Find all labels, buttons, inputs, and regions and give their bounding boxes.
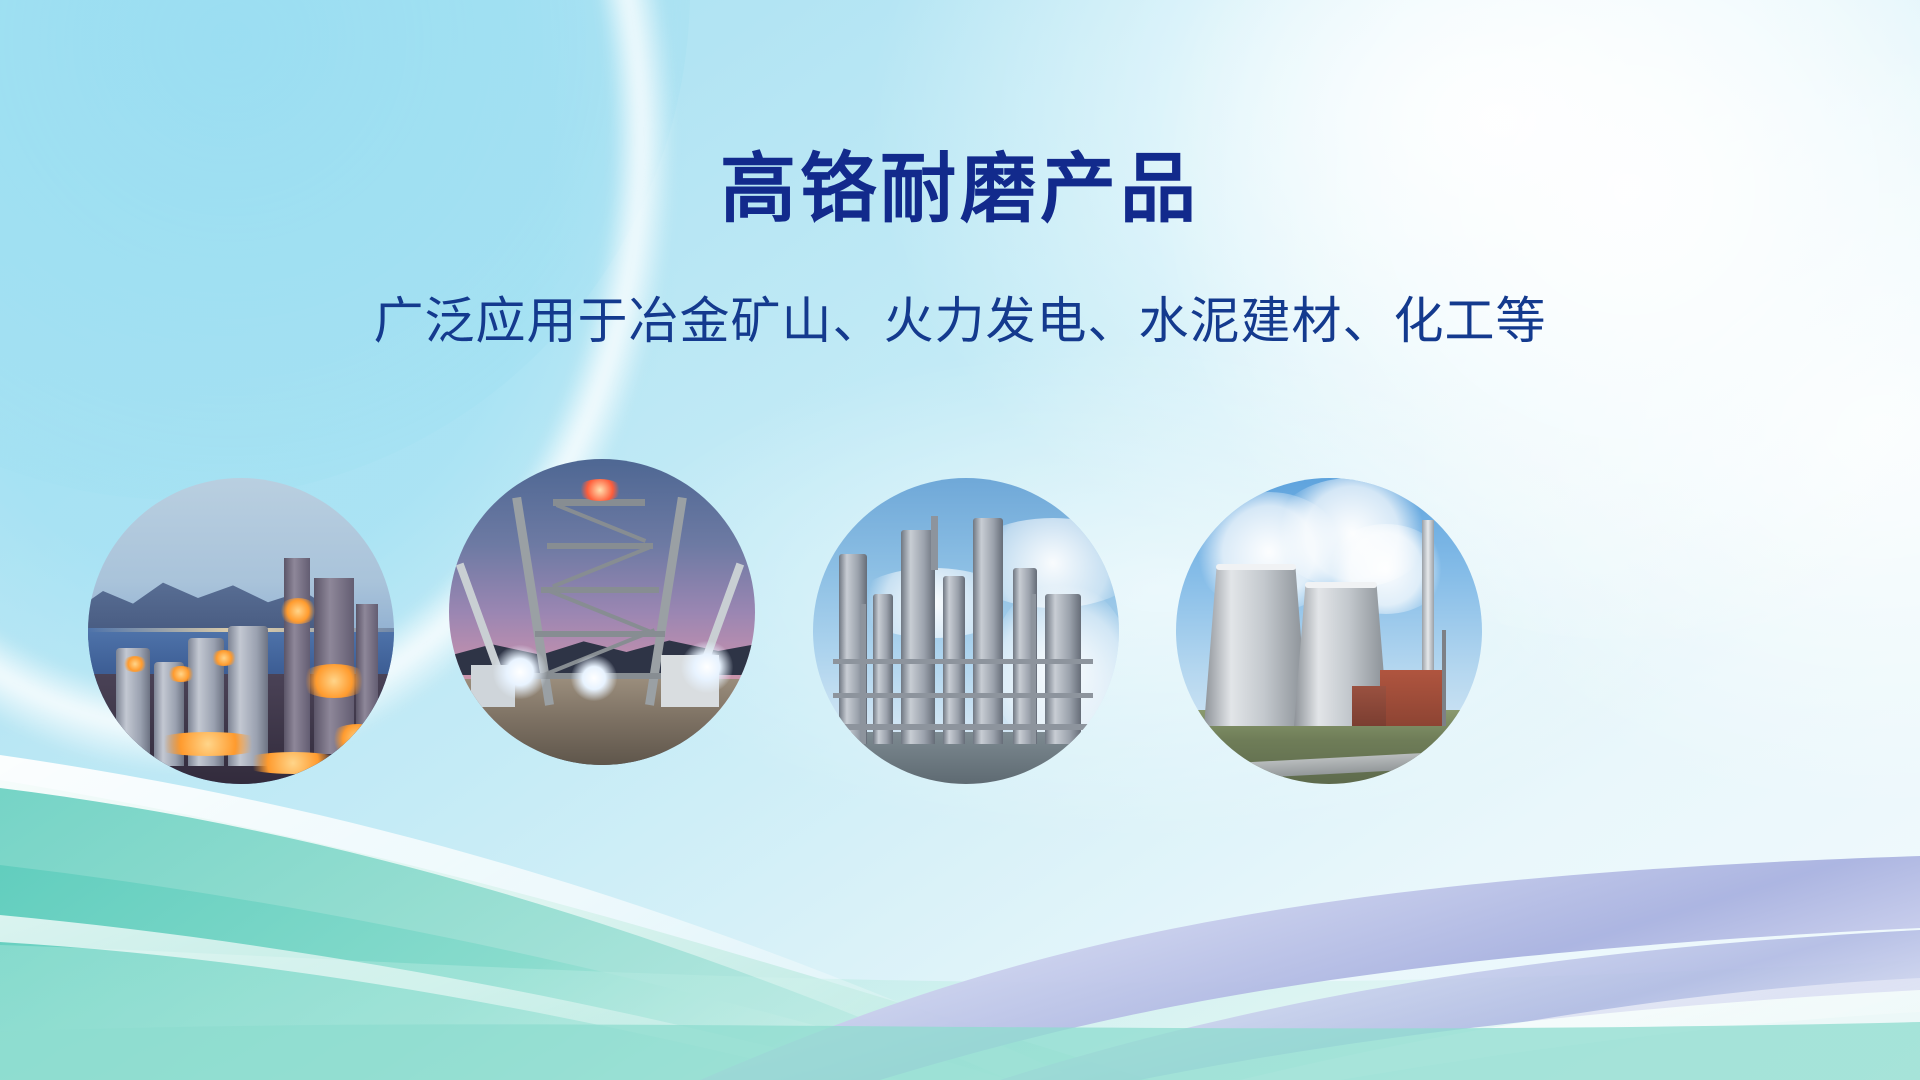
structure-frame <box>861 604 866 744</box>
headframe-beacon <box>577 479 623 501</box>
plant-light <box>328 724 388 754</box>
plant-light <box>122 656 148 672</box>
medallion-mining[interactable] <box>449 459 755 765</box>
site-lamp <box>681 641 733 693</box>
distillation-column <box>1045 594 1081 744</box>
plant-light <box>238 752 348 774</box>
medallion-metallurgy[interactable] <box>88 478 394 784</box>
cooling-tower-rim <box>1216 564 1296 570</box>
transmission-pylon <box>1442 630 1446 726</box>
distillation-column <box>873 594 893 744</box>
site-lamp <box>493 645 547 699</box>
pipe-rack <box>833 724 1101 730</box>
scene-power <box>1176 478 1482 784</box>
pipe-rack <box>833 693 1093 698</box>
plant-tower <box>284 558 310 754</box>
power-house <box>1352 686 1386 726</box>
medallion-power[interactable] <box>1176 478 1482 784</box>
plant-light <box>278 598 318 624</box>
distillation-column <box>901 530 935 744</box>
headframe-crossbar <box>547 543 653 549</box>
scene-metallurgy <box>88 478 394 784</box>
scene-chemical <box>813 478 1119 784</box>
cooling-tower <box>1204 568 1308 726</box>
power-house <box>1380 670 1442 726</box>
plant-light <box>148 732 268 756</box>
structure-frame <box>1031 594 1036 744</box>
flare-stack <box>931 516 938 570</box>
cooling-tower-rim <box>1305 582 1377 588</box>
site-lamp <box>571 655 617 701</box>
plant-light <box>166 666 196 682</box>
plant-light <box>210 650 238 666</box>
banner-stage: 高铬耐磨产品 广泛应用于冶金矿山、火力发电、水泥建材、化工等 <box>0 0 1920 1080</box>
medallion-chemical[interactable] <box>813 478 1119 784</box>
scene-mining <box>449 459 755 765</box>
plant-light <box>298 664 370 698</box>
distillation-column <box>973 518 1003 744</box>
page-subtitle: 广泛应用于冶金矿山、火力发电、水泥建材、化工等 <box>0 293 1920 351</box>
page-title: 高铬耐磨产品 <box>0 152 1920 228</box>
pipe-rack <box>833 659 1093 664</box>
